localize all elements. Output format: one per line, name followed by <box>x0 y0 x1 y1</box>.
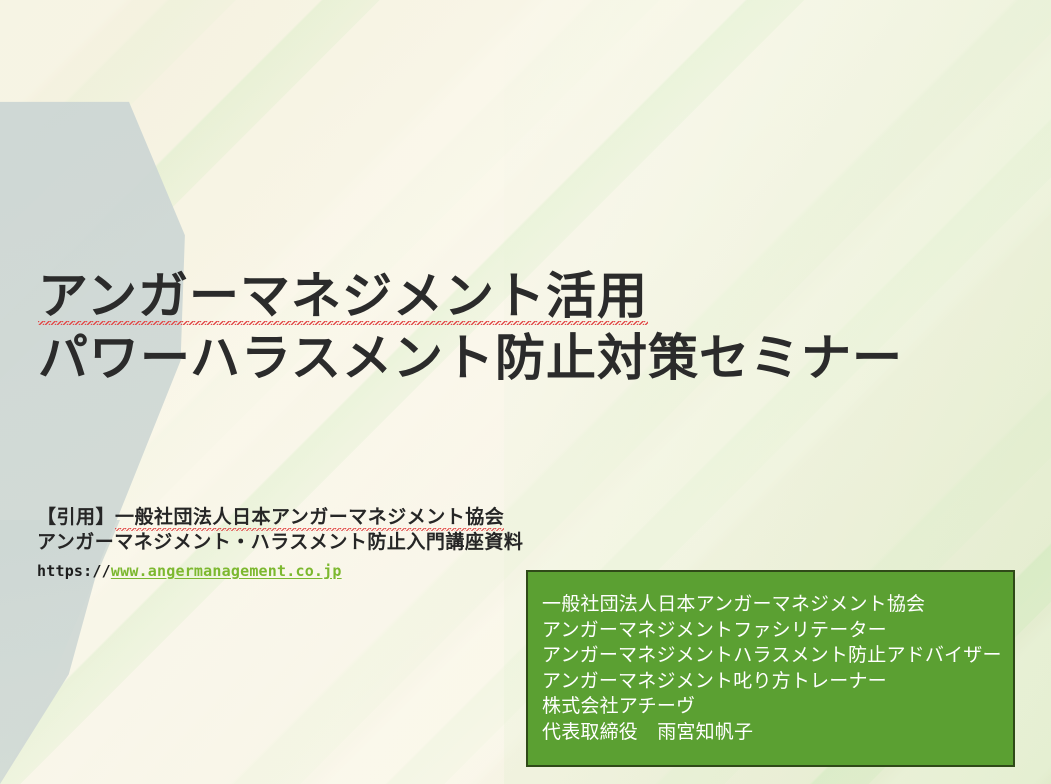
citation-material-line: アンガーマネジメント・ハラスメント防止入門講座資料 <box>37 530 677 555</box>
citation-source-line: 【引用】一般社団法人日本アンガーマネジメント協会 <box>37 505 677 530</box>
url-scheme-text: https:// <box>37 562 111 580</box>
url-hyperlink[interactable]: www.angermanagement.co.jp <box>111 562 342 580</box>
presenter-line: 株式会社アチーヴ <box>542 694 1013 720</box>
presenter-line: アンガーマネジメント叱り方トレーナー <box>542 669 1013 695</box>
slide-canvas: アンガーマネジメント活用 パワーハラスメント防止対策セミナー 【引用】一般社団法… <box>0 0 1051 784</box>
presenter-line: 一般社団法人日本アンガーマネジメント協会 <box>542 592 1013 618</box>
presenter-info-box: 一般社団法人日本アンガーマネジメント協会 アンガーマネジメントファシリテーター … <box>526 570 1015 767</box>
presenter-line: アンガーマネジメントハラスメント防止アドバイザー <box>542 643 1013 669</box>
citation-marker: 【引用】 <box>37 507 115 528</box>
citation-source-name: 一般社団法人日本アンガーマネジメント協会 <box>115 505 504 530</box>
slide-title: アンガーマネジメント活用 パワーハラスメント防止対策セミナー <box>38 265 998 389</box>
title-line-2: パワーハラスメント防止対策セミナー <box>38 327 998 389</box>
presenter-line: アンガーマネジメントファシリテーター <box>542 618 1013 644</box>
presenter-line: 代表取締役 雨宮知帆子 <box>542 720 1013 746</box>
title-line-1: アンガーマネジメント活用 <box>38 265 648 327</box>
title-line-1-wrapper: アンガーマネジメント活用 <box>38 265 998 327</box>
